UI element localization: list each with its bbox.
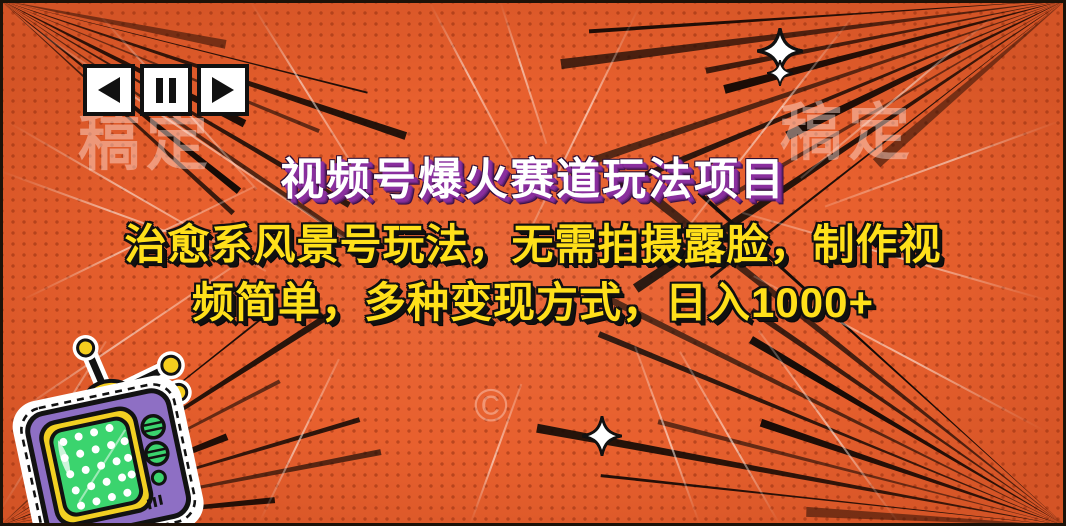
play-triangle-icon xyxy=(212,77,234,103)
page-title: 视频号爆火赛道玩法项目 xyxy=(0,143,1066,207)
sparkle-icon xyxy=(582,416,622,456)
pause-button[interactable] xyxy=(140,64,192,116)
subtitle-line-1: 治愈系风景号玩法，无需拍摄露脸，制作视 xyxy=(0,216,1066,274)
previous-button[interactable] xyxy=(83,64,135,116)
sparkle-icon xyxy=(767,60,793,86)
poster-canvas: 稿定 稿定 © 视频号爆火赛道玩法项目 治愈系风景号玩法，无需拍摄露脸，制作视 … xyxy=(0,0,1066,526)
retro-tv-sticker xyxy=(0,316,232,526)
watermark-copyright-icon: © xyxy=(474,382,508,428)
media-controls xyxy=(83,64,249,116)
previous-triangle-icon xyxy=(98,77,120,103)
subtitle-block: 治愈系风景号玩法，无需拍摄露脸，制作视 频简单，多种变现方式，日入1000+ xyxy=(0,216,1066,332)
pause-bars-icon xyxy=(156,78,176,103)
play-button[interactable] xyxy=(197,64,249,116)
